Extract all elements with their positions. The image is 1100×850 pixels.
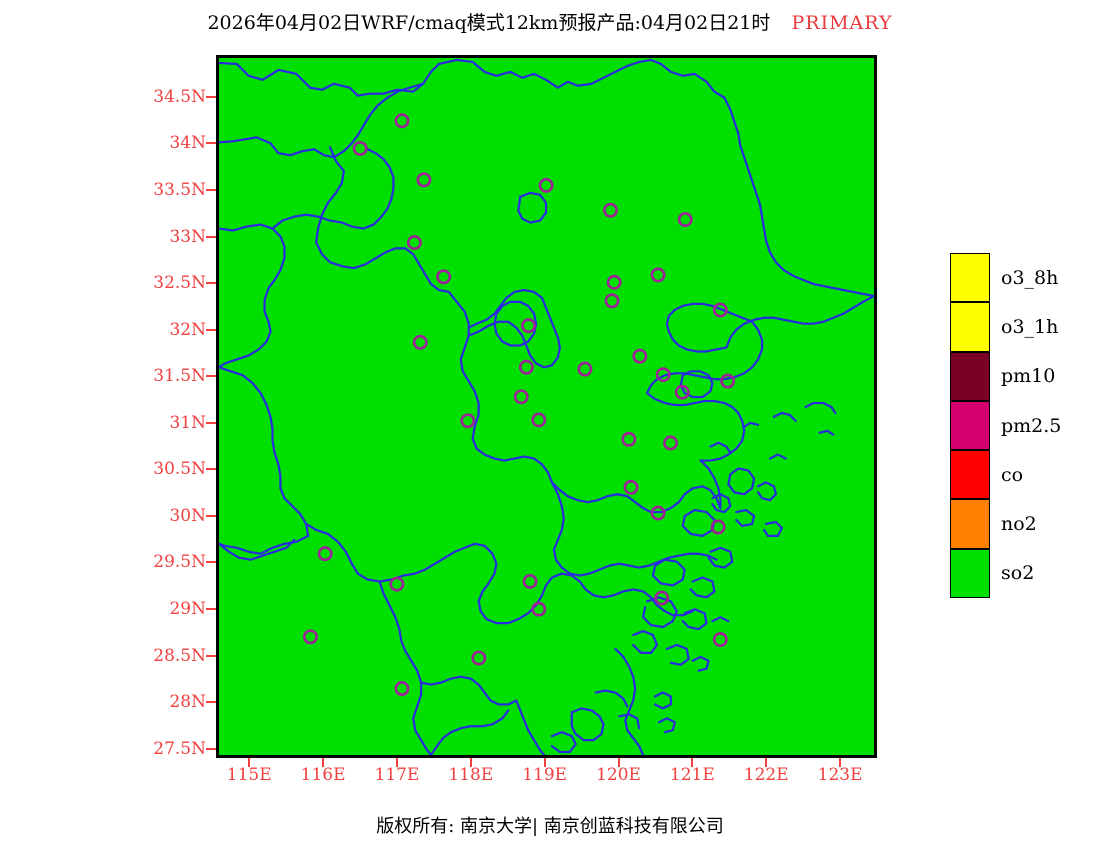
legend-swatch — [950, 352, 990, 401]
station-marker[interactable] — [579, 363, 591, 375]
legend-item-o3-8h[interactable]: o3_8h — [950, 253, 1090, 302]
station-marker[interactable] — [515, 391, 527, 403]
y-tick-mark — [206, 282, 216, 284]
y-tick-mark — [206, 515, 216, 517]
copyright-footer: 版权所有: 南京大学| 南京创蓝科技有限公司 — [0, 812, 1100, 838]
x-tick-label: 115E — [227, 765, 272, 785]
y-tick-mark — [206, 748, 216, 750]
x-tick-mark — [248, 758, 250, 767]
y-tick-mark — [206, 236, 216, 238]
y-tick-label: 30N — [169, 506, 206, 526]
legend-swatch — [950, 302, 990, 351]
map-plot-area[interactable] — [216, 55, 877, 758]
station-marker[interactable] — [604, 204, 616, 216]
y-tick-label: 28N — [169, 692, 206, 712]
title-main-text: 2026年04月02日WRF/cmaq模式12km预报产品:04月02日21时 — [207, 12, 770, 34]
station-marker[interactable] — [533, 603, 545, 615]
y-tick-label: 34.5N — [153, 87, 206, 107]
station-marker[interactable] — [540, 179, 552, 191]
y-tick-label: 33N — [169, 227, 206, 247]
station-marker[interactable] — [634, 350, 646, 362]
station-marker[interactable] — [462, 415, 474, 427]
x-tick-mark — [765, 758, 767, 767]
station-marker[interactable] — [319, 548, 331, 560]
y-tick-mark — [206, 701, 216, 703]
y-tick-mark — [206, 142, 216, 144]
legend-item-no2[interactable]: no2 — [950, 499, 1090, 548]
legend-item-o3-1h[interactable]: o3_1h — [950, 302, 1090, 351]
station-marker[interactable] — [414, 336, 426, 348]
y-axis-labels: 34.5N34N33.5N33N32.5N32N31.5N31N30.5N30N… — [128, 0, 206, 850]
station-marker[interactable] — [524, 575, 536, 587]
station-marker[interactable] — [522, 320, 534, 332]
station-marker[interactable] — [608, 276, 620, 288]
x-tick-mark — [470, 758, 472, 767]
y-tick-label: 34N — [169, 133, 206, 153]
y-tick-mark — [206, 655, 216, 657]
y-tick-label: 31.5N — [153, 366, 206, 386]
legend-label: pm2.5 — [1001, 415, 1061, 437]
station-marker[interactable] — [396, 115, 408, 127]
y-tick-mark — [206, 468, 216, 470]
x-tick-label: 118E — [448, 765, 493, 785]
legend-swatch — [950, 499, 990, 548]
x-tick-mark — [618, 758, 620, 767]
legend-label: co — [1001, 464, 1023, 486]
y-tick-label: 29N — [169, 599, 206, 619]
y-tick-label: 28.5N — [153, 646, 206, 666]
legend-label: o3_1h — [1001, 316, 1058, 338]
x-tick-label: 120E — [596, 765, 641, 785]
x-axis-labels: 115E116E117E118E119E120E121E122E123E — [0, 765, 1100, 795]
x-tick-label: 119E — [522, 765, 567, 785]
y-tick-mark — [206, 375, 216, 377]
y-tick-mark — [206, 561, 216, 563]
station-marker[interactable] — [304, 631, 316, 643]
y-tick-label: 30.5N — [153, 459, 206, 479]
station-marker[interactable] — [354, 142, 366, 154]
station-marker[interactable] — [437, 271, 449, 283]
x-tick-label: 123E — [818, 765, 863, 785]
station-marker[interactable] — [520, 361, 532, 373]
y-tick-label: 29.5N — [153, 552, 206, 572]
title-primary-flag: PRIMARY — [791, 12, 892, 34]
legend-label: no2 — [1001, 513, 1037, 535]
y-tick-label: 31N — [169, 413, 206, 433]
y-tick-label: 32.5N — [153, 273, 206, 293]
station-marker[interactable] — [664, 437, 676, 449]
station-marker[interactable] — [721, 375, 733, 387]
x-tick-label: 117E — [375, 765, 420, 785]
pollutant-legend: o3_8ho3_1hpm10pm2.5cono2so2 — [950, 253, 1090, 598]
legend-item-co[interactable]: co — [950, 450, 1090, 499]
legend-swatch — [950, 401, 990, 450]
station-marker[interactable] — [625, 481, 637, 493]
legend-item-pm10[interactable]: pm10 — [950, 352, 1090, 401]
legend-label: o3_8h — [1001, 267, 1058, 289]
station-marker[interactable] — [408, 236, 420, 248]
x-tick-mark — [396, 758, 398, 767]
x-tick-label: 122E — [744, 765, 789, 785]
station-marker[interactable] — [391, 578, 403, 590]
legend-swatch — [950, 253, 990, 302]
station-marker[interactable] — [533, 414, 545, 426]
station-marker[interactable] — [623, 433, 635, 445]
station-marker[interactable] — [679, 213, 691, 225]
x-tick-label: 121E — [670, 765, 715, 785]
legend-label: so2 — [1001, 562, 1034, 584]
y-tick-mark — [206, 422, 216, 424]
y-tick-label: 27.5N — [153, 739, 206, 759]
x-tick-label: 116E — [301, 765, 346, 785]
station-marker[interactable] — [473, 652, 485, 664]
y-tick-mark — [206, 189, 216, 191]
map-canvas — [219, 58, 874, 755]
legend-swatch — [950, 549, 990, 598]
y-tick-label: 32N — [169, 320, 206, 340]
y-tick-mark — [206, 608, 216, 610]
y-tick-mark — [206, 96, 216, 98]
station-marker[interactable] — [418, 174, 430, 186]
x-tick-mark — [839, 758, 841, 767]
province-boundaries — [219, 60, 874, 755]
x-tick-mark — [544, 758, 546, 767]
station-marker[interactable] — [714, 633, 726, 645]
legend-swatch — [950, 450, 990, 499]
legend-label: pm10 — [1001, 365, 1055, 387]
legend-item-so2[interactable]: so2 — [950, 549, 1090, 598]
legend-item-pm2-5[interactable]: pm2.5 — [950, 401, 1090, 450]
y-tick-mark — [206, 329, 216, 331]
x-tick-mark — [322, 758, 324, 767]
station-marker[interactable] — [396, 682, 408, 694]
y-tick-label: 33.5N — [153, 180, 206, 200]
x-tick-mark — [691, 758, 693, 767]
station-marker[interactable] — [652, 269, 664, 281]
station-marker[interactable] — [606, 295, 618, 307]
